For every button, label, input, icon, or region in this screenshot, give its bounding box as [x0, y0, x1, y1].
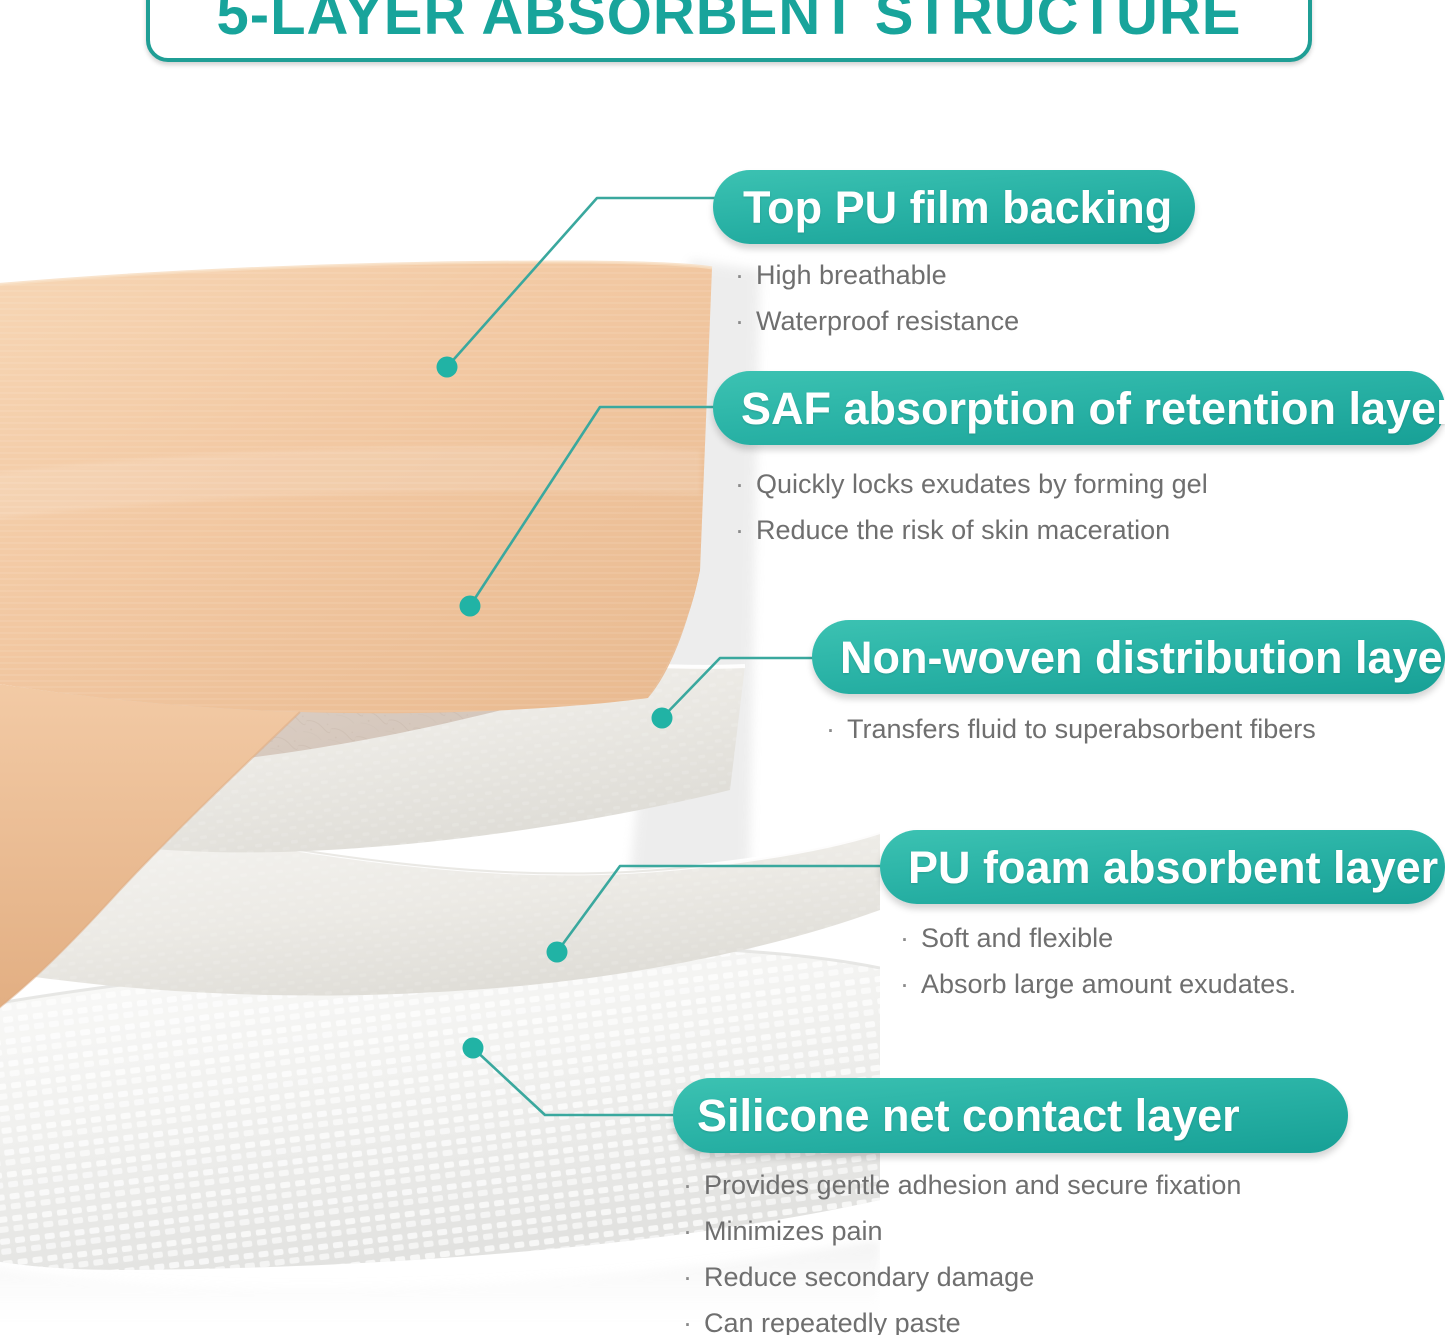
- callout-pill-silicone-net-contact-layer[interactable]: Silicone net contact layer: [673, 1078, 1348, 1153]
- bullet-item: · Transfers fluid to superabsorbent fibe…: [826, 716, 1316, 743]
- bullet-item: · Provides gentle adhesion and secure fi…: [683, 1172, 1241, 1199]
- bullet-item: · Soft and flexible: [900, 925, 1296, 952]
- bullet-marker-icon: ·: [735, 517, 744, 544]
- bullet-text: Provides gentle adhesion and secure fixa…: [704, 1172, 1241, 1199]
- bullet-text: High breathable: [756, 262, 947, 289]
- callout-pill-top-pu-film-backing[interactable]: Top PU film backing: [713, 170, 1195, 244]
- bullet-text: Soft and flexible: [921, 925, 1113, 952]
- callout-bullets-pu-foam-absorbent-layer: · Soft and flexible · Absorb large amoun…: [900, 925, 1296, 998]
- bullet-item: · High breathable: [735, 262, 1019, 289]
- page-title: 5-LAYER ABSORBENT STRUCTURE: [217, 0, 1242, 58]
- bullet-text: Minimizes pain: [704, 1218, 883, 1245]
- title-banner: 5-LAYER ABSORBENT STRUCTURE: [146, 0, 1312, 62]
- bullet-text: Reduce the risk of skin maceration: [756, 517, 1170, 544]
- callout-label-pu-foam-absorbent-layer: PU foam absorbent layer: [908, 845, 1438, 890]
- callout-pill-saf-absorption-of-retention-layer[interactable]: SAF absorption of retention layer: [713, 371, 1445, 445]
- callout-pill-non-woven-distribution-layer[interactable]: Non-woven distribution layer: [812, 620, 1445, 694]
- callout-bullets-top-pu-film-backing: · High breathable · Waterproof resistanc…: [735, 262, 1019, 335]
- bullet-item: · Can repeatedly paste: [683, 1310, 1241, 1335]
- bullet-item: · Reduce secondary damage: [683, 1264, 1241, 1291]
- bullet-item: · Absorb large amount exudates.: [900, 971, 1296, 998]
- bullet-marker-icon: ·: [735, 308, 744, 335]
- bullet-item: · Minimizes pain: [683, 1218, 1241, 1245]
- callout-bullets-non-woven-distribution-layer: · Transfers fluid to superabsorbent fibe…: [826, 716, 1316, 743]
- callout-bullets-saf-absorption-of-retention-layer: · Quickly locks exudates by forming gel …: [735, 471, 1208, 544]
- bullet-item: · Waterproof resistance: [735, 308, 1019, 335]
- bullet-marker-icon: ·: [683, 1264, 692, 1291]
- callout-label-saf-absorption-of-retention-layer: SAF absorption of retention layer: [741, 386, 1445, 431]
- bullet-marker-icon: ·: [900, 925, 909, 952]
- bullet-marker-icon: ·: [900, 971, 909, 998]
- bullet-item: · Reduce the risk of skin maceration: [735, 517, 1208, 544]
- bullet-marker-icon: ·: [735, 262, 744, 289]
- bullet-text: Reduce secondary damage: [704, 1264, 1034, 1291]
- bullet-text: Can repeatedly paste: [704, 1310, 961, 1335]
- callout-label-non-woven-distribution-layer: Non-woven distribution layer: [840, 635, 1445, 680]
- bullet-marker-icon: ·: [735, 471, 744, 498]
- bullet-marker-icon: ·: [683, 1310, 692, 1335]
- callout-bullets-silicone-net-contact-layer: · Provides gentle adhesion and secure fi…: [683, 1172, 1241, 1335]
- callout-pill-pu-foam-absorbent-layer[interactable]: PU foam absorbent layer: [880, 830, 1445, 904]
- bullet-text: Transfers fluid to superabsorbent fibers: [847, 716, 1316, 743]
- bullet-item: · Quickly locks exudates by forming gel: [735, 471, 1208, 498]
- bullet-marker-icon: ·: [826, 716, 835, 743]
- bullet-text: Absorb large amount exudates.: [921, 971, 1296, 998]
- bullet-text: Quickly locks exudates by forming gel: [756, 471, 1208, 498]
- infographic-canvas: 5-LAYER ABSORBENT STRUCTURE Top PU film …: [0, 0, 1445, 1335]
- bullet-text: Waterproof resistance: [756, 308, 1019, 335]
- callout-label-silicone-net-contact-layer: Silicone net contact layer: [697, 1093, 1240, 1138]
- bullet-marker-icon: ·: [683, 1218, 692, 1245]
- bullet-marker-icon: ·: [683, 1172, 692, 1199]
- callout-label-top-pu-film-backing: Top PU film backing: [743, 185, 1172, 230]
